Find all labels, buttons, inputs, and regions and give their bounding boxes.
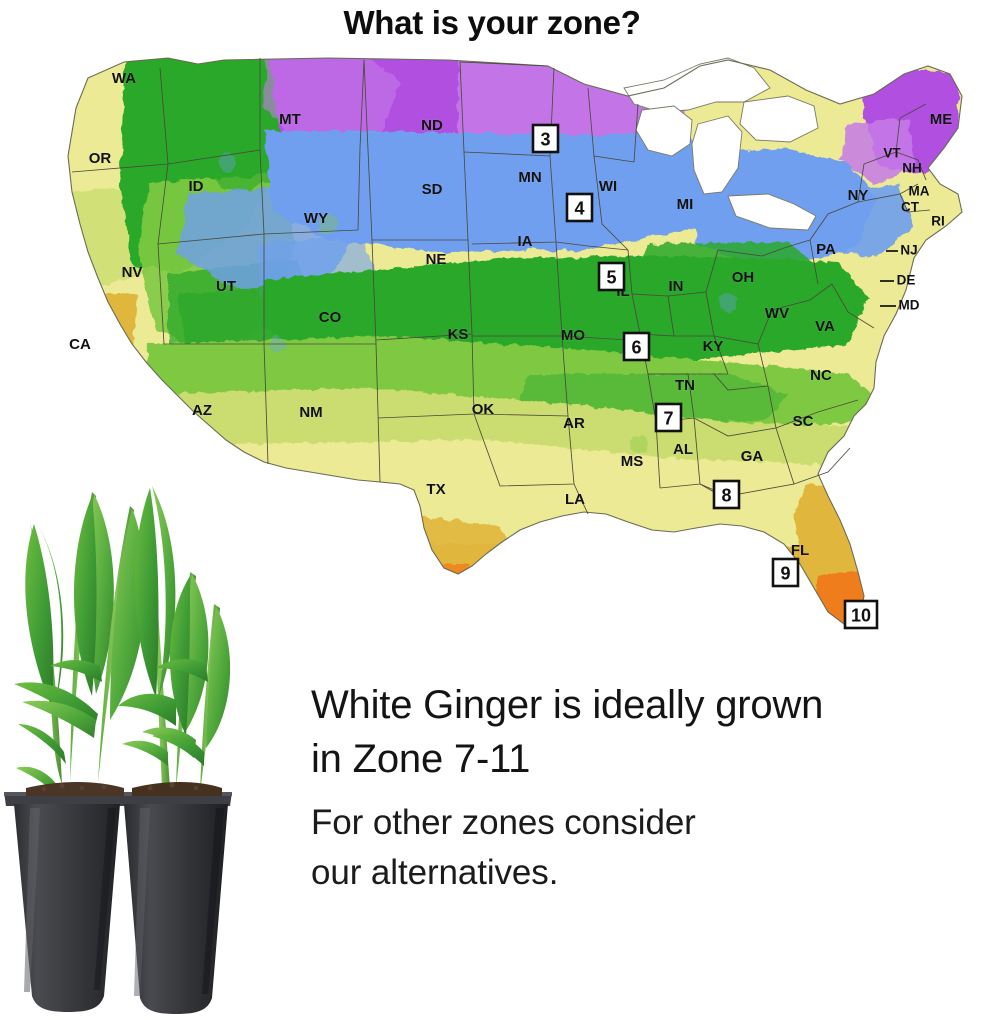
nursery-pots	[4, 782, 232, 1014]
svg-text:4: 4	[574, 199, 584, 219]
state-label-wv: WV	[765, 305, 789, 322]
product-copy: White Ginger is ideally grown in Zone 7-…	[311, 678, 984, 898]
state-label-ut: UT	[216, 278, 236, 295]
state-label-id: ID	[189, 178, 204, 195]
left-plant-foliage	[14, 492, 146, 796]
state-label-mn: MN	[518, 169, 541, 186]
svg-text:8: 8	[721, 486, 731, 506]
svg-text:5: 5	[606, 268, 616, 288]
zone-marker-9: 9	[773, 559, 798, 586]
state-label-ia: IA	[518, 233, 533, 250]
state-label-nv: NV	[122, 264, 143, 281]
subline-line-1: For other zones consider	[311, 798, 984, 848]
white-ginger-plant-photo	[0, 452, 268, 1020]
state-label-ma: MA	[909, 184, 930, 199]
zone-marker-10: 10	[845, 601, 877, 628]
state-label-tn: TN	[675, 377, 695, 394]
zone-marker-7: 7	[656, 404, 681, 431]
state-label-wy: WY	[304, 210, 328, 227]
state-label-ok: OK	[472, 401, 495, 418]
headline-line-2: in Zone 7-11	[311, 732, 984, 786]
headline-line-1: White Ginger is ideally grown	[311, 678, 984, 732]
state-label-ne: NE	[426, 251, 447, 268]
state-label-wi: WI	[599, 178, 617, 195]
state-label-nj: NJ	[900, 243, 917, 258]
state-label-ga: GA	[741, 448, 764, 465]
state-label-md: MD	[899, 298, 920, 313]
state-label-tx: TX	[426, 481, 445, 498]
zone-marker-6: 6	[624, 333, 649, 360]
state-label-wa: WA	[112, 70, 136, 87]
state-label-sc: SC	[793, 413, 814, 430]
state-label-ca: CA	[69, 336, 91, 353]
state-label-me: ME	[930, 111, 953, 128]
state-label-al: AL	[673, 441, 693, 458]
state-label-or: OR	[89, 150, 112, 167]
state-label-ms: MS	[621, 453, 644, 470]
state-label-vt: VT	[883, 146, 901, 161]
svg-text:6: 6	[631, 338, 641, 358]
svg-text:3: 3	[540, 130, 550, 150]
svg-text:7: 7	[663, 409, 673, 429]
state-label-va: VA	[815, 318, 835, 335]
state-label-in: IN	[669, 278, 684, 295]
state-label-az: AZ	[192, 402, 212, 419]
page-title: What is your zone?	[0, 0, 984, 46]
state-label-ar: AR	[563, 415, 585, 432]
state-label-mo: MO	[561, 327, 585, 344]
state-label-sd: SD	[422, 181, 443, 198]
zone-marker-3: 3	[533, 125, 558, 152]
plant-svg	[0, 452, 268, 1020]
state-label-ct: CT	[901, 200, 920, 215]
state-label-nc: NC	[810, 367, 832, 384]
zone-marker-5: 5	[599, 263, 624, 290]
subline-line-2: our alternatives.	[311, 848, 984, 898]
state-label-oh: OH	[732, 269, 755, 286]
state-label-de: DE	[897, 273, 916, 288]
zone-marker-4: 4	[567, 194, 592, 221]
state-label-ri: RI	[931, 214, 945, 229]
state-label-ky: KY	[703, 338, 724, 355]
state-label-ks: KS	[448, 326, 469, 343]
state-label-mi: MI	[677, 196, 694, 213]
svg-text:10: 10	[851, 606, 871, 626]
state-label-nh: NH	[902, 161, 922, 176]
state-label-mt: MT	[279, 111, 301, 128]
zone-marker-8: 8	[714, 481, 739, 508]
state-label-nd: ND	[421, 117, 443, 134]
state-label-pa: PA	[816, 241, 836, 258]
state-label-fl: FL	[791, 542, 809, 559]
state-label-ny: NY	[848, 187, 869, 204]
svg-text:9: 9	[780, 564, 790, 584]
state-label-co: CO	[319, 309, 342, 326]
state-label-la: LA	[565, 491, 585, 508]
state-label-nm: NM	[299, 404, 322, 421]
